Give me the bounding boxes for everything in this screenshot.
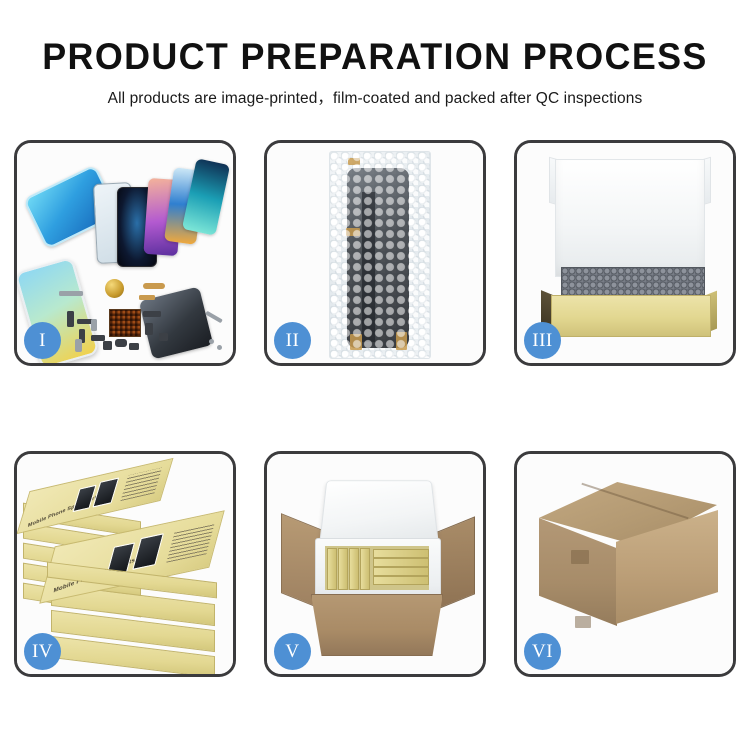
packed-box bbox=[338, 548, 348, 590]
box-printed-spec-lines bbox=[120, 467, 162, 501]
wrapped-phone-part bbox=[347, 168, 409, 348]
spare-part bbox=[143, 283, 165, 289]
packed-box bbox=[373, 558, 429, 567]
spare-part bbox=[91, 335, 105, 341]
tape-piece bbox=[346, 228, 360, 236]
carton-tape-patch bbox=[571, 550, 589, 564]
spare-part bbox=[115, 339, 127, 347]
spare-part bbox=[159, 333, 168, 341]
packed-box bbox=[373, 567, 429, 576]
screw-part bbox=[209, 339, 214, 344]
spare-part bbox=[143, 311, 161, 317]
spare-part bbox=[103, 341, 112, 350]
carton-tape-patch bbox=[575, 616, 591, 628]
screw-part bbox=[217, 345, 222, 350]
process-steps-grid: I II III bbox=[14, 140, 736, 677]
tape-piece bbox=[348, 158, 360, 165]
wrapped-part-strip bbox=[362, 192, 375, 342]
tweezers-tool bbox=[205, 311, 223, 323]
packed-box bbox=[373, 576, 429, 585]
packed-yellow-boxes bbox=[325, 546, 429, 590]
bubble-wrap-bag bbox=[329, 151, 431, 359]
step-badge-3: III bbox=[524, 322, 561, 359]
step-panel-2[interactable]: II bbox=[264, 140, 486, 366]
step-panel-3[interactable]: III bbox=[514, 140, 736, 366]
spare-part bbox=[129, 343, 139, 350]
carton-front-panel bbox=[311, 594, 443, 656]
chip-array-part bbox=[109, 309, 141, 337]
styrofoam-lid bbox=[319, 480, 439, 543]
copper-coil-part bbox=[105, 279, 124, 298]
yellow-box-front bbox=[551, 295, 711, 337]
spare-part bbox=[75, 339, 82, 352]
tape-piece bbox=[350, 334, 362, 350]
packed-box bbox=[327, 548, 337, 590]
step-badge-4: IV bbox=[24, 633, 61, 670]
step-badge-2: II bbox=[274, 322, 311, 359]
box-printed-screen bbox=[132, 533, 164, 570]
step-badge-6: VI bbox=[524, 633, 561, 670]
page-header: PRODUCT PREPARATION PROCESS All products… bbox=[0, 0, 750, 108]
step-badge-1: I bbox=[24, 322, 61, 359]
spare-part bbox=[145, 323, 153, 335]
box-printed-screen bbox=[92, 477, 119, 507]
step-panel-1[interactable]: I bbox=[14, 140, 236, 366]
spare-part bbox=[59, 291, 83, 296]
spare-part bbox=[91, 319, 97, 331]
page-subtitle: All products are image-printed，film-coat… bbox=[0, 86, 750, 108]
spare-part bbox=[67, 311, 74, 327]
step-badge-5: V bbox=[274, 633, 311, 670]
packed-box bbox=[349, 548, 359, 590]
step-panel-4[interactable]: Mobile Phone Spare Parts Mobile Phone Sp… bbox=[14, 451, 236, 677]
page-title: PRODUCT PREPARATION PROCESS bbox=[11, 38, 739, 77]
step-panel-5[interactable]: V bbox=[264, 451, 486, 677]
packed-box bbox=[373, 549, 429, 558]
spare-part bbox=[139, 295, 155, 300]
packed-box bbox=[360, 548, 370, 590]
box-printed-spec-lines bbox=[166, 522, 215, 562]
step-panel-6[interactable]: VI bbox=[514, 451, 736, 677]
tape-piece bbox=[396, 332, 407, 350]
white-foam-lid bbox=[555, 159, 705, 277]
